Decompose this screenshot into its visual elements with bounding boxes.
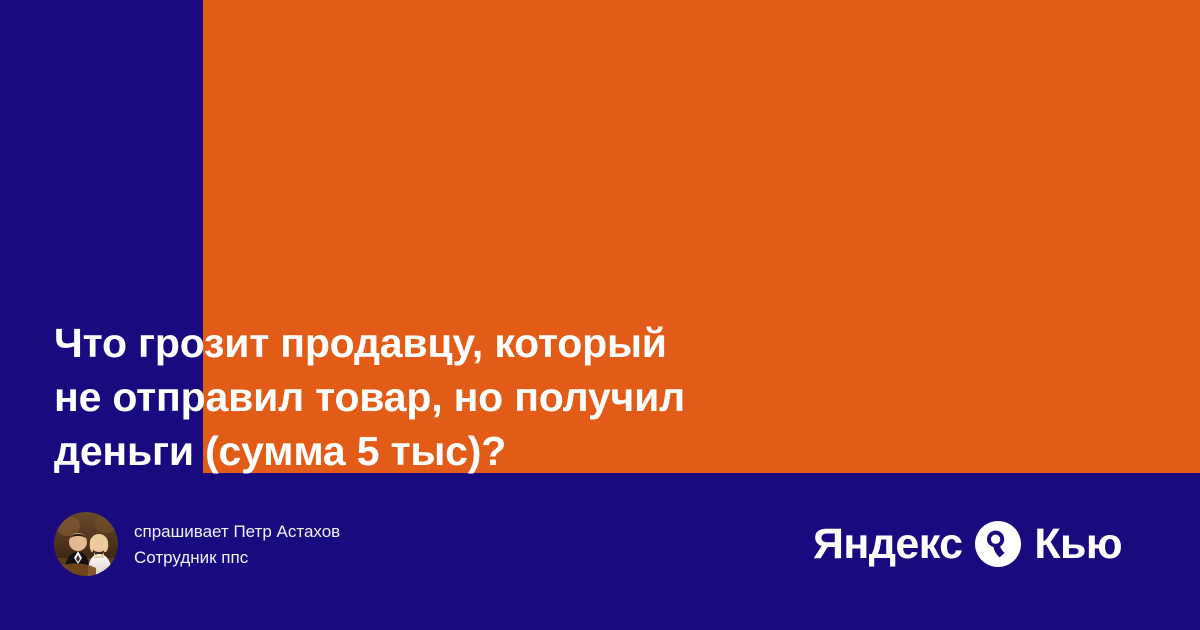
question-title: Что грозит продавцу, который не отправил… — [54, 316, 844, 478]
author-role: Сотрудник ппс — [134, 547, 340, 568]
q-circle-icon — [975, 521, 1021, 567]
avatar — [54, 512, 118, 576]
author-text: спрашивает Петр Астахов Сотрудник ппс — [134, 521, 340, 568]
avatar-photo — [54, 512, 118, 576]
brand-name-q: Кью — [1034, 519, 1122, 569]
share-card: Что грозит продавцу, который не отправил… — [0, 0, 1200, 630]
brand-logo: Яндекс Кью — [813, 519, 1122, 569]
author-block: спрашивает Петр Астахов Сотрудник ппс — [54, 512, 340, 576]
brand-name-yandex: Яндекс — [813, 519, 962, 569]
author-name: спрашивает Петр Астахов — [134, 521, 340, 542]
